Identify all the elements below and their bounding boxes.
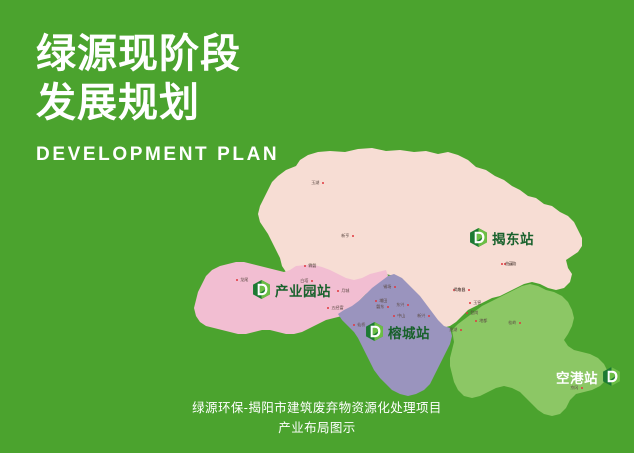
station-marker-jiedong[interactable]: 揭东站 <box>470 228 534 248</box>
city-dot-icon <box>353 324 355 326</box>
city-dot-icon <box>236 279 238 281</box>
city-name-label: 桂岭 <box>508 320 516 326</box>
development-plan-poster: 绿源现阶段 发展规划 DEVELOPMENT PLAN 玉湖新亨锡场炮台玉窖登岗… <box>0 0 634 453</box>
city-marker: 月城 <box>337 288 350 294</box>
city-dot-icon <box>327 307 329 309</box>
city-marker: 霖磐 <box>304 263 317 269</box>
city-marker: 登岗 <box>466 310 479 316</box>
city-dot-icon <box>387 306 389 308</box>
station-label: 空港站 <box>556 367 598 387</box>
city-dot-icon <box>519 322 521 324</box>
city-name-label: 龙尾 <box>241 277 249 283</box>
city-name-label: 玉湖 <box>311 180 319 186</box>
station-marker-rongcheng[interactable]: 榕城站 <box>366 322 430 342</box>
city-dot-icon <box>394 286 396 288</box>
lvyuan-logo-icon <box>470 228 487 247</box>
caption-line-1: 绿源环保-揭阳市建筑废弃物资源化处理项目 <box>0 398 634 419</box>
city-marker: 磐东 <box>376 304 389 310</box>
city-name-label: 新亨 <box>341 233 349 239</box>
lvyuan-logo-icon <box>253 280 270 299</box>
lvyuan-logo-icon <box>603 367 620 386</box>
caption-line-2: 产业布局图示 <box>0 418 634 439</box>
city-name-label: 曲溪 <box>506 261 514 267</box>
city-marker: 桂岭 <box>508 320 521 326</box>
city-name-label: 渔湖 <box>449 327 457 333</box>
city-dot-icon <box>468 289 470 291</box>
city-dot-icon <box>466 312 468 314</box>
city-name-label: 新兴 <box>417 313 425 319</box>
city-name-label: 五经富 <box>332 305 344 311</box>
city-marker: 新兴 <box>417 313 430 319</box>
city-marker: 玉湖 <box>311 180 324 186</box>
city-dot-icon <box>375 300 377 302</box>
city-dot-icon <box>501 263 503 265</box>
city-name-label: 锡场 <box>383 284 391 290</box>
headline-line-2: 发展规划 <box>36 79 279 128</box>
city-name-label: 揭东县 <box>453 287 465 293</box>
station-marker-industrial-park[interactable]: 产业园站 <box>253 280 331 300</box>
city-name-label: 玉窖 <box>474 300 482 306</box>
city-marker: 东兴 <box>396 302 409 308</box>
city-dot-icon <box>407 304 409 306</box>
city-name-label: 月城 <box>342 288 350 294</box>
lvyuan-logo-icon <box>366 322 383 341</box>
city-marker: 渔湖 <box>449 327 462 333</box>
city-name-label: 地都 <box>480 318 488 324</box>
city-dot-icon <box>469 302 471 304</box>
city-marker: 五经富 <box>327 305 344 311</box>
station-label: 产业园站 <box>275 280 331 300</box>
city-dot-icon <box>393 315 395 317</box>
city-dot-icon <box>428 315 430 317</box>
city-marker: 中山 <box>393 313 406 319</box>
city-name-label: 磐东 <box>376 304 384 310</box>
station-label: 榕城站 <box>388 322 430 342</box>
lvyuan-logo-icon <box>253 280 270 299</box>
city-dot-icon <box>322 182 324 184</box>
city-name-label: 霖磐 <box>309 263 317 269</box>
city-name-label: 东兴 <box>396 302 404 308</box>
city-marker: 龙尾 <box>236 277 249 283</box>
city-name-label: 登岗 <box>471 310 479 316</box>
city-marker: 玉窖 <box>469 300 482 306</box>
city-marker: 揭东县 <box>453 287 470 293</box>
city-dot-icon <box>460 329 462 331</box>
station-marker-airport[interactable]: 空港站 <box>556 367 620 387</box>
city-dot-icon <box>475 320 477 322</box>
city-marker: 曲溪 <box>501 261 514 267</box>
city-dot-icon <box>304 265 306 267</box>
city-dot-icon <box>337 290 339 292</box>
city-name-label: 中山 <box>398 313 406 319</box>
caption-block: 绿源环保-揭阳市建筑废弃物资源化处理项目 产业布局图示 <box>0 398 634 439</box>
city-marker: 锡场 <box>383 284 396 290</box>
headline-block: 绿源现阶段 发展规划 DEVELOPMENT PLAN <box>36 30 279 166</box>
headline-subtitle: DEVELOPMENT PLAN <box>36 144 279 166</box>
city-marker: 地都 <box>475 318 488 324</box>
city-marker: 新亨 <box>341 233 354 239</box>
lvyuan-logo-icon <box>366 322 383 341</box>
city-marker: 仙桥 <box>353 322 366 328</box>
city-name-label: 埔田 <box>380 298 388 304</box>
city-dot-icon <box>581 387 583 389</box>
headline-line-1: 绿源现阶段 <box>36 30 279 79</box>
city-dot-icon <box>352 235 354 237</box>
city-name-label: 仙桥 <box>358 322 366 328</box>
lvyuan-logo-icon <box>603 367 620 386</box>
lvyuan-logo-icon <box>470 228 487 247</box>
station-label: 揭东站 <box>492 228 534 248</box>
